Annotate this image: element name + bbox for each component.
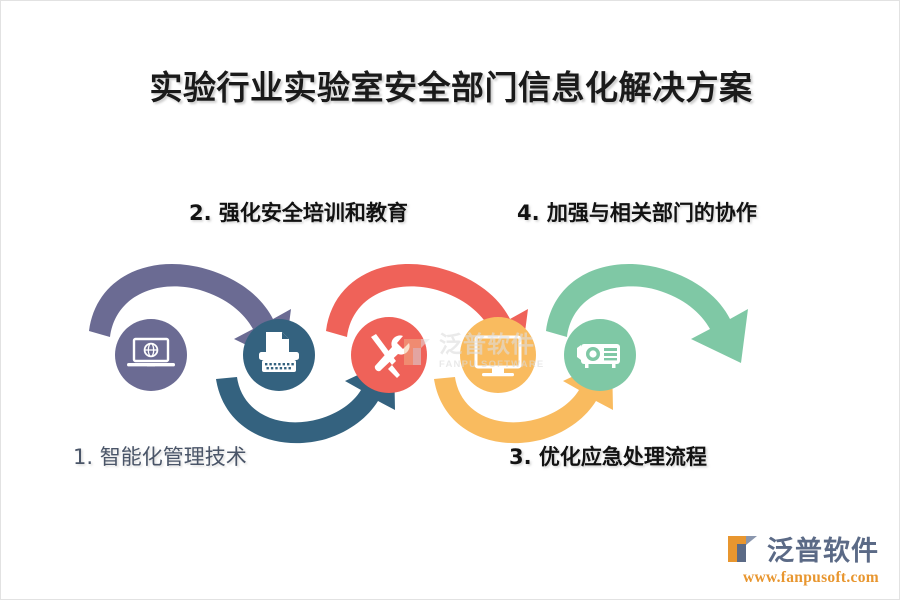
- fanpu-f-logo-icon: [725, 533, 761, 565]
- step-circle-1[interactable]: [115, 319, 187, 391]
- step-circle-2[interactable]: [243, 319, 315, 391]
- brand-cn-text: 泛普软件: [767, 529, 879, 568]
- step-circle-5[interactable]: [564, 319, 636, 391]
- step-caption-2: 2. 强化安全培训和教育: [189, 197, 408, 227]
- step-caption-1: 1. 智能化管理技术: [73, 441, 247, 471]
- process-flow-diagram: [1, 1, 900, 600]
- slide-canvas: 实验行业实验室安全部门信息化解决方案: [0, 0, 900, 600]
- brand-logo-row: 泛普软件: [725, 529, 879, 568]
- step-circle-4[interactable]: [460, 317, 536, 393]
- step-caption-4: 4. 加强与相关部门的协作: [517, 197, 757, 227]
- step-caption-3: 3. 优化应急处理流程: [509, 441, 707, 471]
- brand-url-text: www.fanpusoft.com: [743, 569, 879, 587]
- brand-logo: 泛普软件 www.fanpusoft.com: [725, 529, 879, 587]
- step-circle-3[interactable]: [351, 317, 427, 393]
